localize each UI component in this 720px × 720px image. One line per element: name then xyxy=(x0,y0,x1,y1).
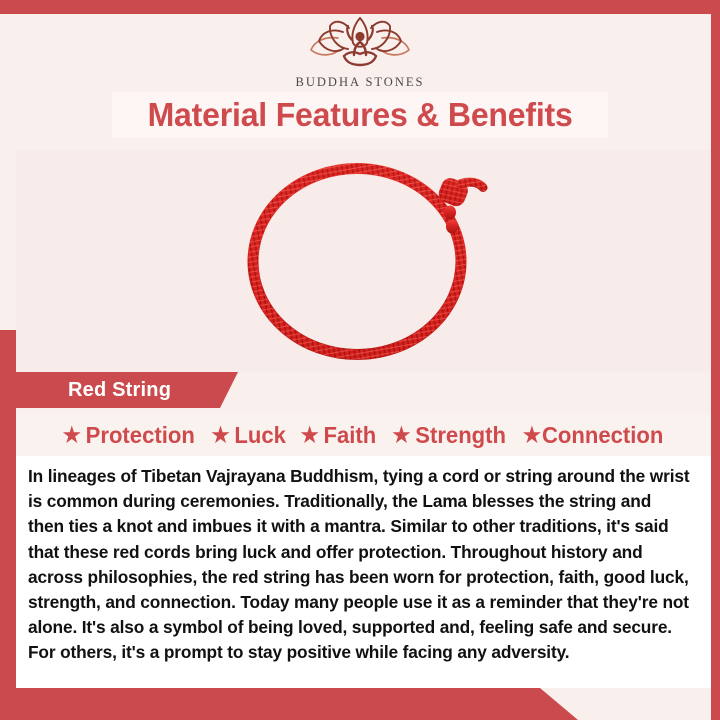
benefit-item: ★ Connection xyxy=(518,422,670,449)
brand-logo: BUDDHA STONES xyxy=(296,16,425,90)
left-accent-band xyxy=(0,330,16,720)
bottom-accent-band xyxy=(0,688,600,720)
star-icon: ★ xyxy=(523,425,541,446)
product-label: Red String xyxy=(68,379,171,402)
product-image-area xyxy=(16,150,711,372)
star-icon: ★ xyxy=(392,425,410,446)
star-icon: ★ xyxy=(301,425,319,446)
lotus-meditation-icon xyxy=(308,16,412,73)
description-text: In lineages of Tibetan Vajrayana Buddhis… xyxy=(28,464,690,666)
infographic-page: BUDDHA STONES Material Features & Benefi… xyxy=(0,0,720,720)
brand-name: BUDDHA STONES xyxy=(296,75,425,90)
star-icon: ★ xyxy=(63,425,81,446)
benefit-item: ★ Luck xyxy=(206,422,292,449)
page-title: Material Features & Benefits xyxy=(147,96,572,134)
top-accent-band xyxy=(0,0,720,14)
star-icon: ★ xyxy=(211,425,229,446)
benefit-label: Protection xyxy=(86,422,195,449)
benefit-label: Faith xyxy=(324,422,377,449)
benefit-label: Strength xyxy=(415,422,506,449)
benefit-item: ★ Strength xyxy=(387,422,512,449)
red-braided-string-bracelet-icon xyxy=(239,154,489,369)
benefits-row: ★ Protection ★ Luck ★ Faith ★ Strength ★… xyxy=(16,414,711,456)
benefit-item: ★ Faith xyxy=(295,422,382,449)
brand-header: BUDDHA STONES xyxy=(0,14,720,92)
benefit-item: ★ Protection xyxy=(57,422,201,449)
description-panel: In lineages of Tibetan Vajrayana Buddhis… xyxy=(16,456,711,688)
product-label-banner: Red String xyxy=(16,372,238,408)
right-accent-band xyxy=(711,0,720,720)
benefit-label: Luck xyxy=(234,422,286,449)
benefit-label: Connection xyxy=(542,422,663,449)
title-banner: Material Features & Benefits xyxy=(112,92,608,138)
